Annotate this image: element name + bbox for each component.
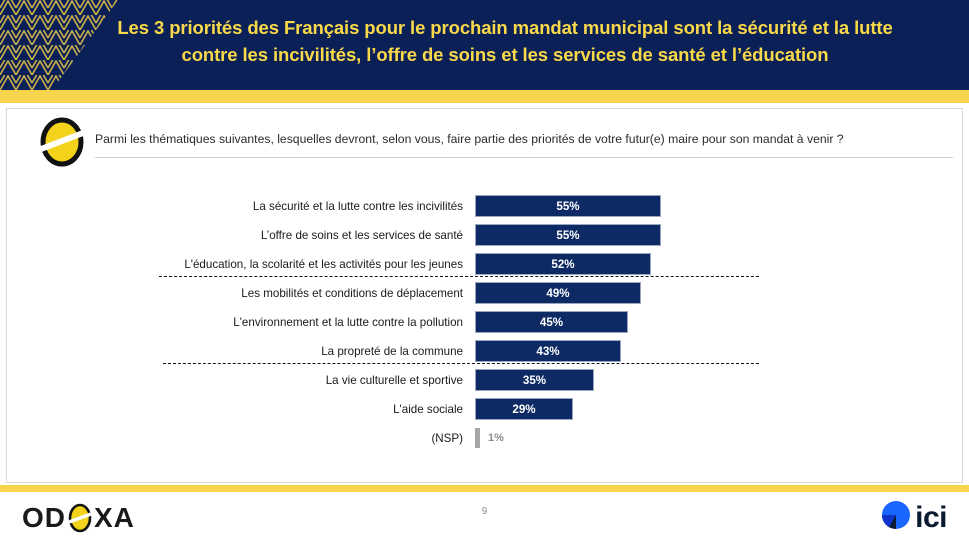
chart-bar-zone: 55% — [475, 195, 964, 217]
chart-bar-zone: 35% — [475, 369, 964, 391]
chart-bar-value: 52% — [551, 258, 574, 271]
chart-group-separator — [163, 363, 759, 364]
chart-row-label: La propreté de la commune — [7, 345, 475, 358]
chart-row-label: L'aide sociale — [7, 403, 475, 416]
content-panel: Parmi les thématiques suivantes, lesquel… — [6, 108, 963, 483]
chart-bar: 55% — [475, 224, 661, 246]
chart-bar-zone: 29% — [475, 398, 964, 420]
question-label: Parmi les thématiques suivantes, lesquel… — [95, 131, 945, 148]
chart-row: (NSP)1% — [7, 427, 964, 449]
chart-row-label: Les mobilités et conditions de déplaceme… — [7, 287, 475, 300]
chart-bar-value: 1% — [488, 427, 504, 449]
chart-row-label: La sécurité et la lutte contre les inciv… — [7, 200, 475, 213]
odoxa-logo-icon — [37, 115, 87, 169]
chart-bar-zone: 55% — [475, 224, 964, 246]
chart-bar: 29% — [475, 398, 573, 420]
chart-bar: 43% — [475, 340, 621, 362]
bar-chart: La sécurité et la lutte contre les inciv… — [7, 187, 964, 477]
chart-bar-value: 55% — [556, 200, 579, 213]
ici-wordmark: ici — [915, 503, 947, 533]
chart-bar-zone: 43% — [475, 340, 964, 362]
chart-bar-zone: 52% — [475, 253, 964, 275]
chart-bar-value: 43% — [536, 345, 559, 358]
chart-group-separator — [159, 276, 759, 277]
chart-row-label: L'éducation, la scolarité et les activit… — [7, 258, 475, 271]
chart-row: La vie culturelle et sportive35% — [7, 369, 964, 391]
chart-bar — [475, 428, 480, 448]
chart-row-label: La vie culturelle et sportive — [7, 374, 475, 387]
slide-header: Les 3 priorités des Français pour le pro… — [0, 0, 969, 90]
chart-row: L'aide sociale29% — [7, 398, 964, 420]
chart-bar: 49% — [475, 282, 641, 304]
chart-bar: 35% — [475, 369, 594, 391]
page-title: Les 3 priorités des Français pour le pro… — [110, 14, 900, 68]
chart-row: Les mobilités et conditions de déplaceme… — [7, 282, 964, 304]
chart-bar-zone: 49% — [475, 282, 964, 304]
chart-row: La propreté de la commune43% — [7, 340, 964, 362]
chart-bar-value: 49% — [546, 287, 569, 300]
slide-root: Les 3 priorités des Français pour le pro… — [0, 0, 969, 544]
chart-bar-value: 55% — [556, 229, 579, 242]
question-divider — [95, 157, 953, 158]
chart-bar: 52% — [475, 253, 651, 275]
page-number: 9 — [0, 506, 969, 517]
chart-row-label: L'environnement et la lutte contre la po… — [7, 316, 475, 329]
chart-bar-value: 45% — [540, 316, 563, 329]
chart-bar: 45% — [475, 311, 628, 333]
chart-row: L'éducation, la scolarité et les activit… — [7, 253, 964, 275]
chart-row: La sécurité et la lutte contre les inciv… — [7, 195, 964, 217]
chart-bar: 55% — [475, 195, 661, 217]
chart-bar-zone: 45% — [475, 311, 964, 333]
slide-footer: OD XA 9 ici — [0, 492, 969, 544]
chart-row: L'environnement et la lutte contre la po… — [7, 311, 964, 333]
ici-logo: ici — [881, 500, 947, 535]
chart-bar-zone: 1% — [475, 427, 964, 449]
chart-row-label: L’offre de soins et les services de sant… — [7, 229, 475, 242]
chart-row: L’offre de soins et les services de sant… — [7, 224, 964, 246]
ici-circle-icon — [881, 500, 911, 535]
chart-bar-value: 35% — [523, 374, 546, 387]
chart-bar-value: 29% — [512, 403, 535, 416]
chart-row-label: (NSP) — [7, 432, 475, 445]
footer-accent-band — [0, 485, 969, 492]
header-accent-band — [0, 90, 969, 103]
